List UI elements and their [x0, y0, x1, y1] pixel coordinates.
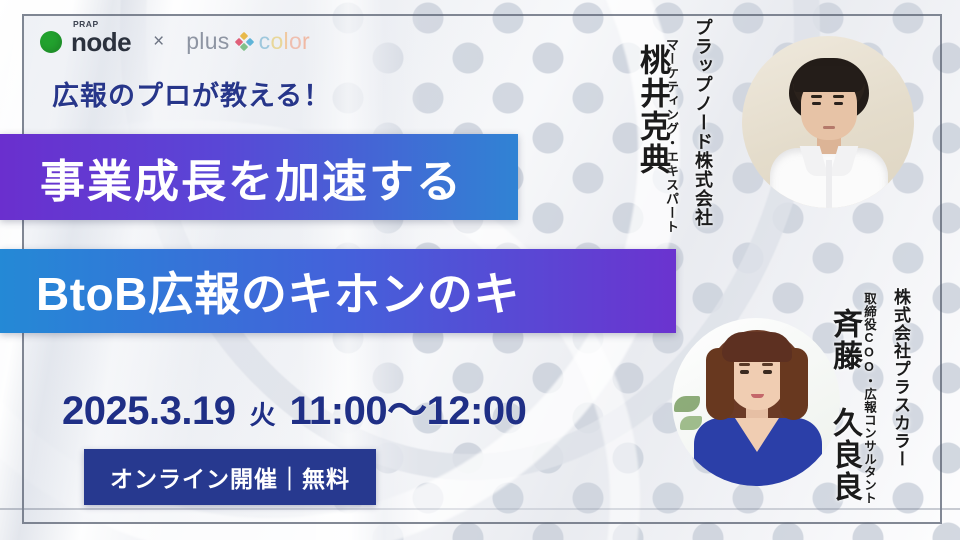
prap-logo-wordmark: node: [71, 27, 131, 57]
speaker-2-name: 斉藤 久良良: [822, 308, 866, 503]
speaker-2-company: 株式会社プラスカラー: [888, 288, 913, 468]
plus-diamond-icon: [236, 33, 253, 50]
shirt-placket: [826, 160, 832, 208]
eye-right: [834, 102, 843, 105]
event-date: 2025.3.19: [62, 389, 235, 434]
speaker-photo-momoi: [742, 36, 914, 208]
headline-bar-primary: 事業成長を加速する: [0, 134, 518, 220]
plus-color-logo: plus color: [186, 28, 310, 55]
eyebrow-left: [739, 363, 750, 366]
event-time: 11:00〜12:00: [289, 378, 526, 436]
eye-left: [740, 370, 749, 374]
banner-subtitle: 広報のプロが教える！: [52, 74, 331, 113]
plus-logo-color-word: color: [259, 28, 310, 55]
event-datetime: 2025.3.19 火 11:00〜12:00: [62, 378, 526, 436]
prap-node-logo: PRAP node: [40, 29, 131, 55]
eyebrow-right: [762, 363, 773, 366]
eyebrow-right: [833, 95, 844, 98]
green-circle-icon: [40, 31, 62, 53]
bottom-divider-line: [0, 508, 960, 510]
hair-fringe: [794, 66, 864, 92]
headline-bar-secondary: BtoB広報のキホンのキ: [0, 249, 676, 333]
multiply-separator-icon: ×: [153, 31, 164, 53]
plus-logo-word: plus: [186, 28, 229, 55]
speaker-1-company: プラップノード株式会社: [690, 18, 716, 227]
eye-right: [763, 370, 772, 374]
eyebrow-left: [811, 95, 822, 98]
speaker-1-name: 桃井克典: [630, 44, 675, 176]
event-day-label: 火: [249, 395, 275, 432]
eye-left: [812, 102, 821, 105]
speaker-photo-saito: [672, 318, 840, 486]
logo-row: PRAP node × plus color: [40, 28, 310, 55]
event-format-badge: オンライン開催｜無料: [84, 449, 376, 505]
hair-fringe: [722, 332, 792, 362]
mouth-shape: [751, 394, 764, 398]
prap-logo-superscript: PRAP: [73, 20, 99, 29]
webinar-banner: PRAP node × plus color 広報のプロが教える！ 事業成長を加…: [0, 0, 960, 540]
mouth-shape: [823, 126, 835, 129]
